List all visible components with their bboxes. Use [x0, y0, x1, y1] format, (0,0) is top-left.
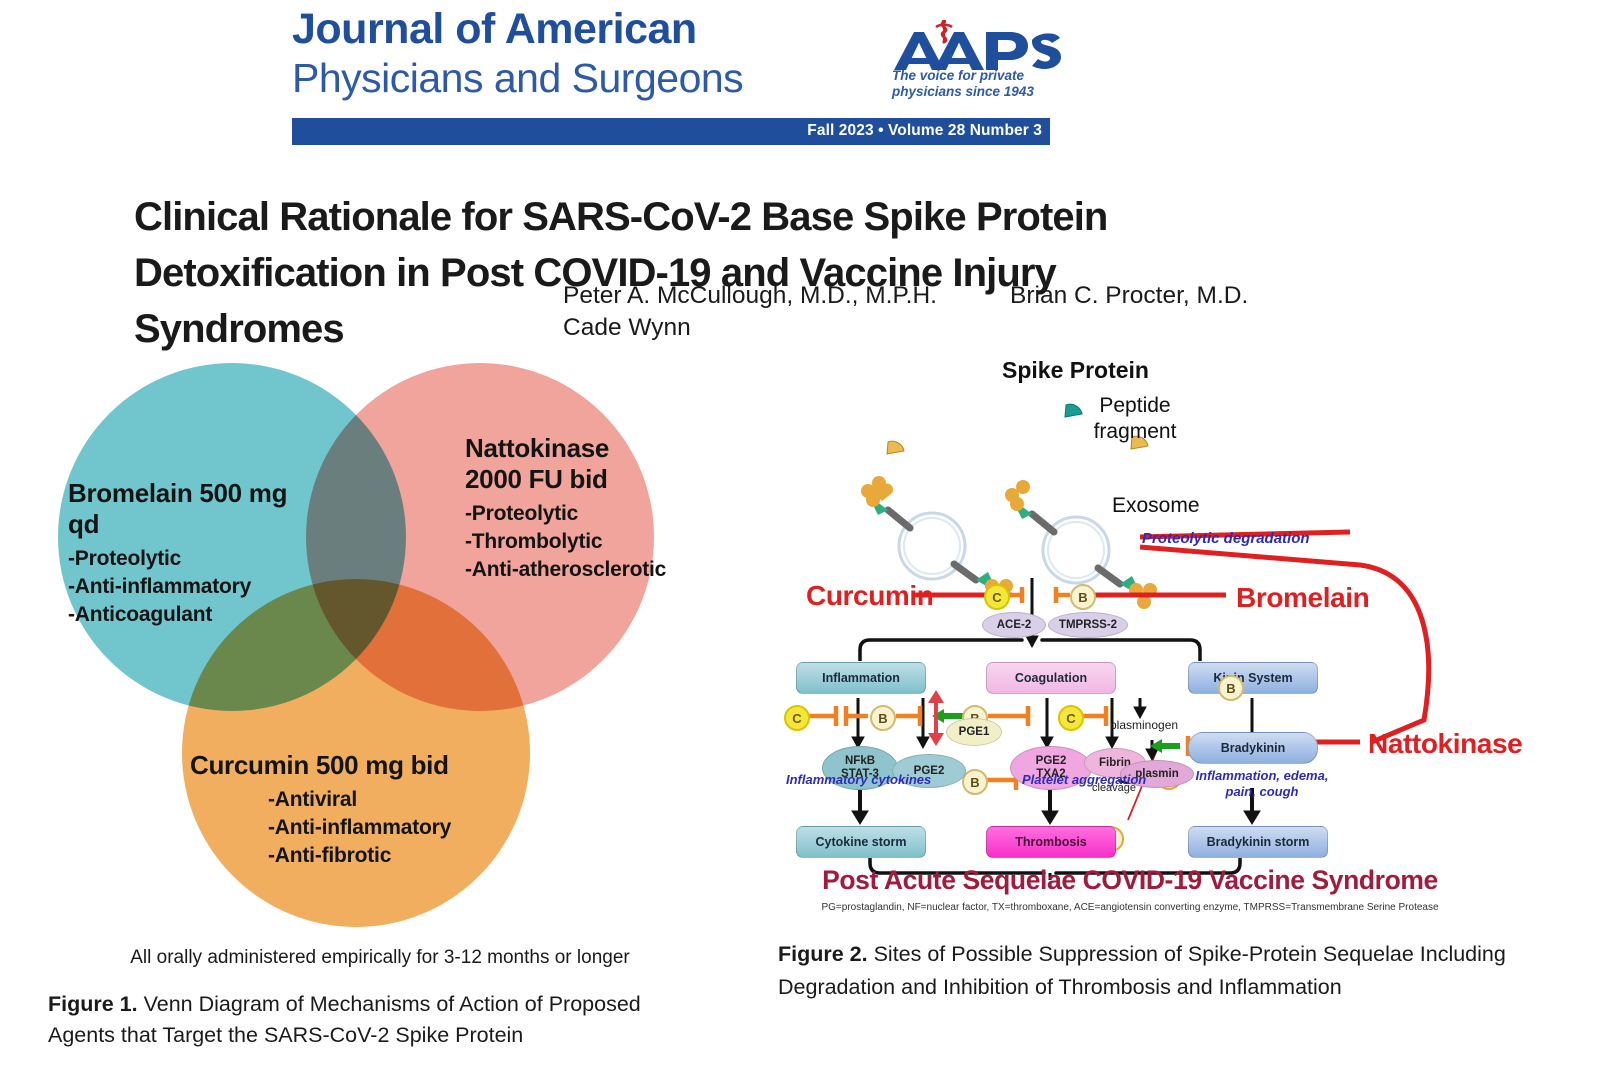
- venn-item: -Anticoagulant: [68, 601, 318, 629]
- venn-item: -Proteolytic: [465, 500, 700, 528]
- tag-b-platelet: B: [962, 769, 988, 795]
- issue-bar: Fall 2023 • Volume 28 Number 3: [292, 118, 1050, 145]
- node-bradykinin: Bradykinin: [1188, 732, 1318, 764]
- figure-2: Spike Protein Peptide fragment Exosome P…: [760, 350, 1600, 1083]
- venn-footnote: All orally administered empirically for …: [50, 947, 710, 969]
- tag-b-kinin: B: [1218, 675, 1244, 701]
- journal-title-line2: Physicians and Surgeons: [292, 54, 852, 102]
- venn-label-nattokinase: Nattokinase 2000 FU bid -Proteolytic -Th…: [465, 433, 700, 584]
- figure-1: Bromelain 500 mg qd -Proteolytic -Anti-i…: [0, 350, 760, 1083]
- spike-icon: [861, 476, 910, 528]
- spike-protein-heading: Spike Protein: [1002, 357, 1149, 384]
- venn-item: -Anti-fibrotic: [268, 842, 520, 870]
- caduceus-icon: [936, 20, 952, 42]
- author-procter: Brian C. Procter, M.D.: [1010, 280, 1248, 312]
- aaps-logo: The voice for private physicians since 1…: [886, 8, 1066, 106]
- agent-nattokinase-label: Nattokinase: [1368, 728, 1522, 760]
- pathway-box-inflammation: Inflammation: [796, 662, 926, 694]
- tag-bromelain-tmprss2: B: [1070, 584, 1096, 610]
- journal-title: Journal of American Physicians and Surge…: [292, 4, 852, 102]
- venn-title-curcumin: Curcumin 500 mg bid: [190, 750, 520, 781]
- pathway-box-coagulation: Coagulation: [986, 662, 1116, 694]
- figure-2-artwork: Spike Protein Peptide fragment Exosome P…: [760, 350, 1560, 930]
- outcome-cytokine-storm: Cytokine storm: [796, 826, 926, 858]
- tag-c-fibrin: C: [1058, 705, 1084, 731]
- journal-title-line1: Journal of American: [292, 4, 852, 54]
- receptor-ace2: ACE-2: [982, 612, 1046, 638]
- tag-curcumin-ace2: C: [984, 584, 1010, 610]
- venn-item: -Thrombolytic: [465, 528, 700, 556]
- peptide-fragment-label: Peptide fragment: [1075, 393, 1195, 445]
- spike-icon: [1098, 568, 1157, 609]
- venn-title-nattokinase-line2: 2000 FU bid: [465, 464, 700, 495]
- figure-1-label: Figure 1.: [48, 992, 138, 1016]
- venn-title-bromelain: Bromelain 500 mg qd: [68, 478, 318, 540]
- label-platelet-aggregation: Platelet aggregation: [1022, 772, 1146, 787]
- abbreviations-footnote: PG=prostaglandin, NF=nuclear factor, TX=…: [780, 902, 1480, 913]
- proteolytic-degradation-label: Proteolytic degradation: [1142, 530, 1310, 547]
- masthead: Journal of American Physicians and Surge…: [0, 0, 1600, 150]
- label-kinin-symptoms: Inflammation, edema, pain, cough: [1182, 768, 1342, 800]
- agent-bromelain-label: Bromelain: [1236, 582, 1369, 614]
- figure-1-caption: Figure 1. Venn Diagram of Mechanisms of …: [48, 989, 708, 1051]
- receptor-tmprss2: TMPRSS-2: [1048, 612, 1128, 638]
- issue-text: Fall 2023 • Volume 28 Number 3: [807, 122, 1042, 140]
- tag-c-nfkb: C: [784, 705, 810, 731]
- venn-item: -Antiviral: [268, 786, 520, 814]
- venn-label-bromelain: Bromelain 500 mg qd -Proteolytic -Anti-i…: [68, 478, 318, 629]
- figure-2-caption: Figure 2. Sites of Possible Suppression …: [778, 938, 1568, 1004]
- venn-title-nattokinase-line1: Nattokinase: [465, 433, 700, 464]
- venn-item: -Proteolytic: [68, 545, 318, 573]
- exosome-label: Exosome: [1112, 494, 1200, 518]
- label-inflammatory-cytokines: Inflammatory cytokines: [786, 772, 931, 787]
- spike-icon: [1005, 480, 1054, 532]
- venn-item: -Anti-atherosclerotic: [465, 556, 700, 584]
- pathway-box-kinin-system: Kinin System: [1188, 662, 1318, 694]
- venn-diagram: Bromelain 500 mg qd -Proteolytic -Anti-i…: [50, 355, 710, 935]
- agent-curcumin-label: Curcumin: [806, 580, 933, 612]
- venn-items-bromelain: -Proteolytic -Anti-inflammatory -Anticoa…: [68, 545, 318, 629]
- aaps-wordmark-icon: [886, 20, 1061, 72]
- venn-item: -Anti-inflammatory: [268, 814, 520, 842]
- venn-items-curcumin: -Antiviral -Anti-inflammatory -Anti-fibr…: [268, 786, 520, 870]
- outcome-thrombosis: Thrombosis: [986, 826, 1116, 858]
- outcome-bradykinin-storm: Bradykinin storm: [1188, 826, 1328, 858]
- node-pge1: PGE1: [946, 718, 1002, 746]
- article-head: Clinical Rationale for SARS-CoV-2 Base S…: [0, 155, 1600, 350]
- tag-b-pge2: B: [870, 705, 896, 731]
- aaps-tagline: The voice for private physicians since 1…: [892, 68, 1062, 100]
- pase-title: Post Acute Sequelae COVID-19 Vaccine Syn…: [780, 865, 1480, 896]
- author-wynn: Cade Wynn: [563, 312, 1283, 344]
- node-plasminogen: plasminogen: [1110, 718, 1178, 732]
- figure-2-caption-text: Sites of Possible Suppression of Spike-P…: [778, 942, 1506, 999]
- figure-1-caption-text: Venn Diagram of Mechanisms of Action of …: [48, 992, 641, 1047]
- venn-items-nattokinase: -Proteolytic -Thrombolytic -Anti-atheros…: [465, 500, 700, 584]
- venn-item: -Anti-inflammatory: [68, 573, 318, 601]
- venn-label-curcumin: Curcumin 500 mg bid -Antiviral -Anti-inf…: [190, 750, 520, 870]
- figure-2-label: Figure 2.: [778, 942, 868, 966]
